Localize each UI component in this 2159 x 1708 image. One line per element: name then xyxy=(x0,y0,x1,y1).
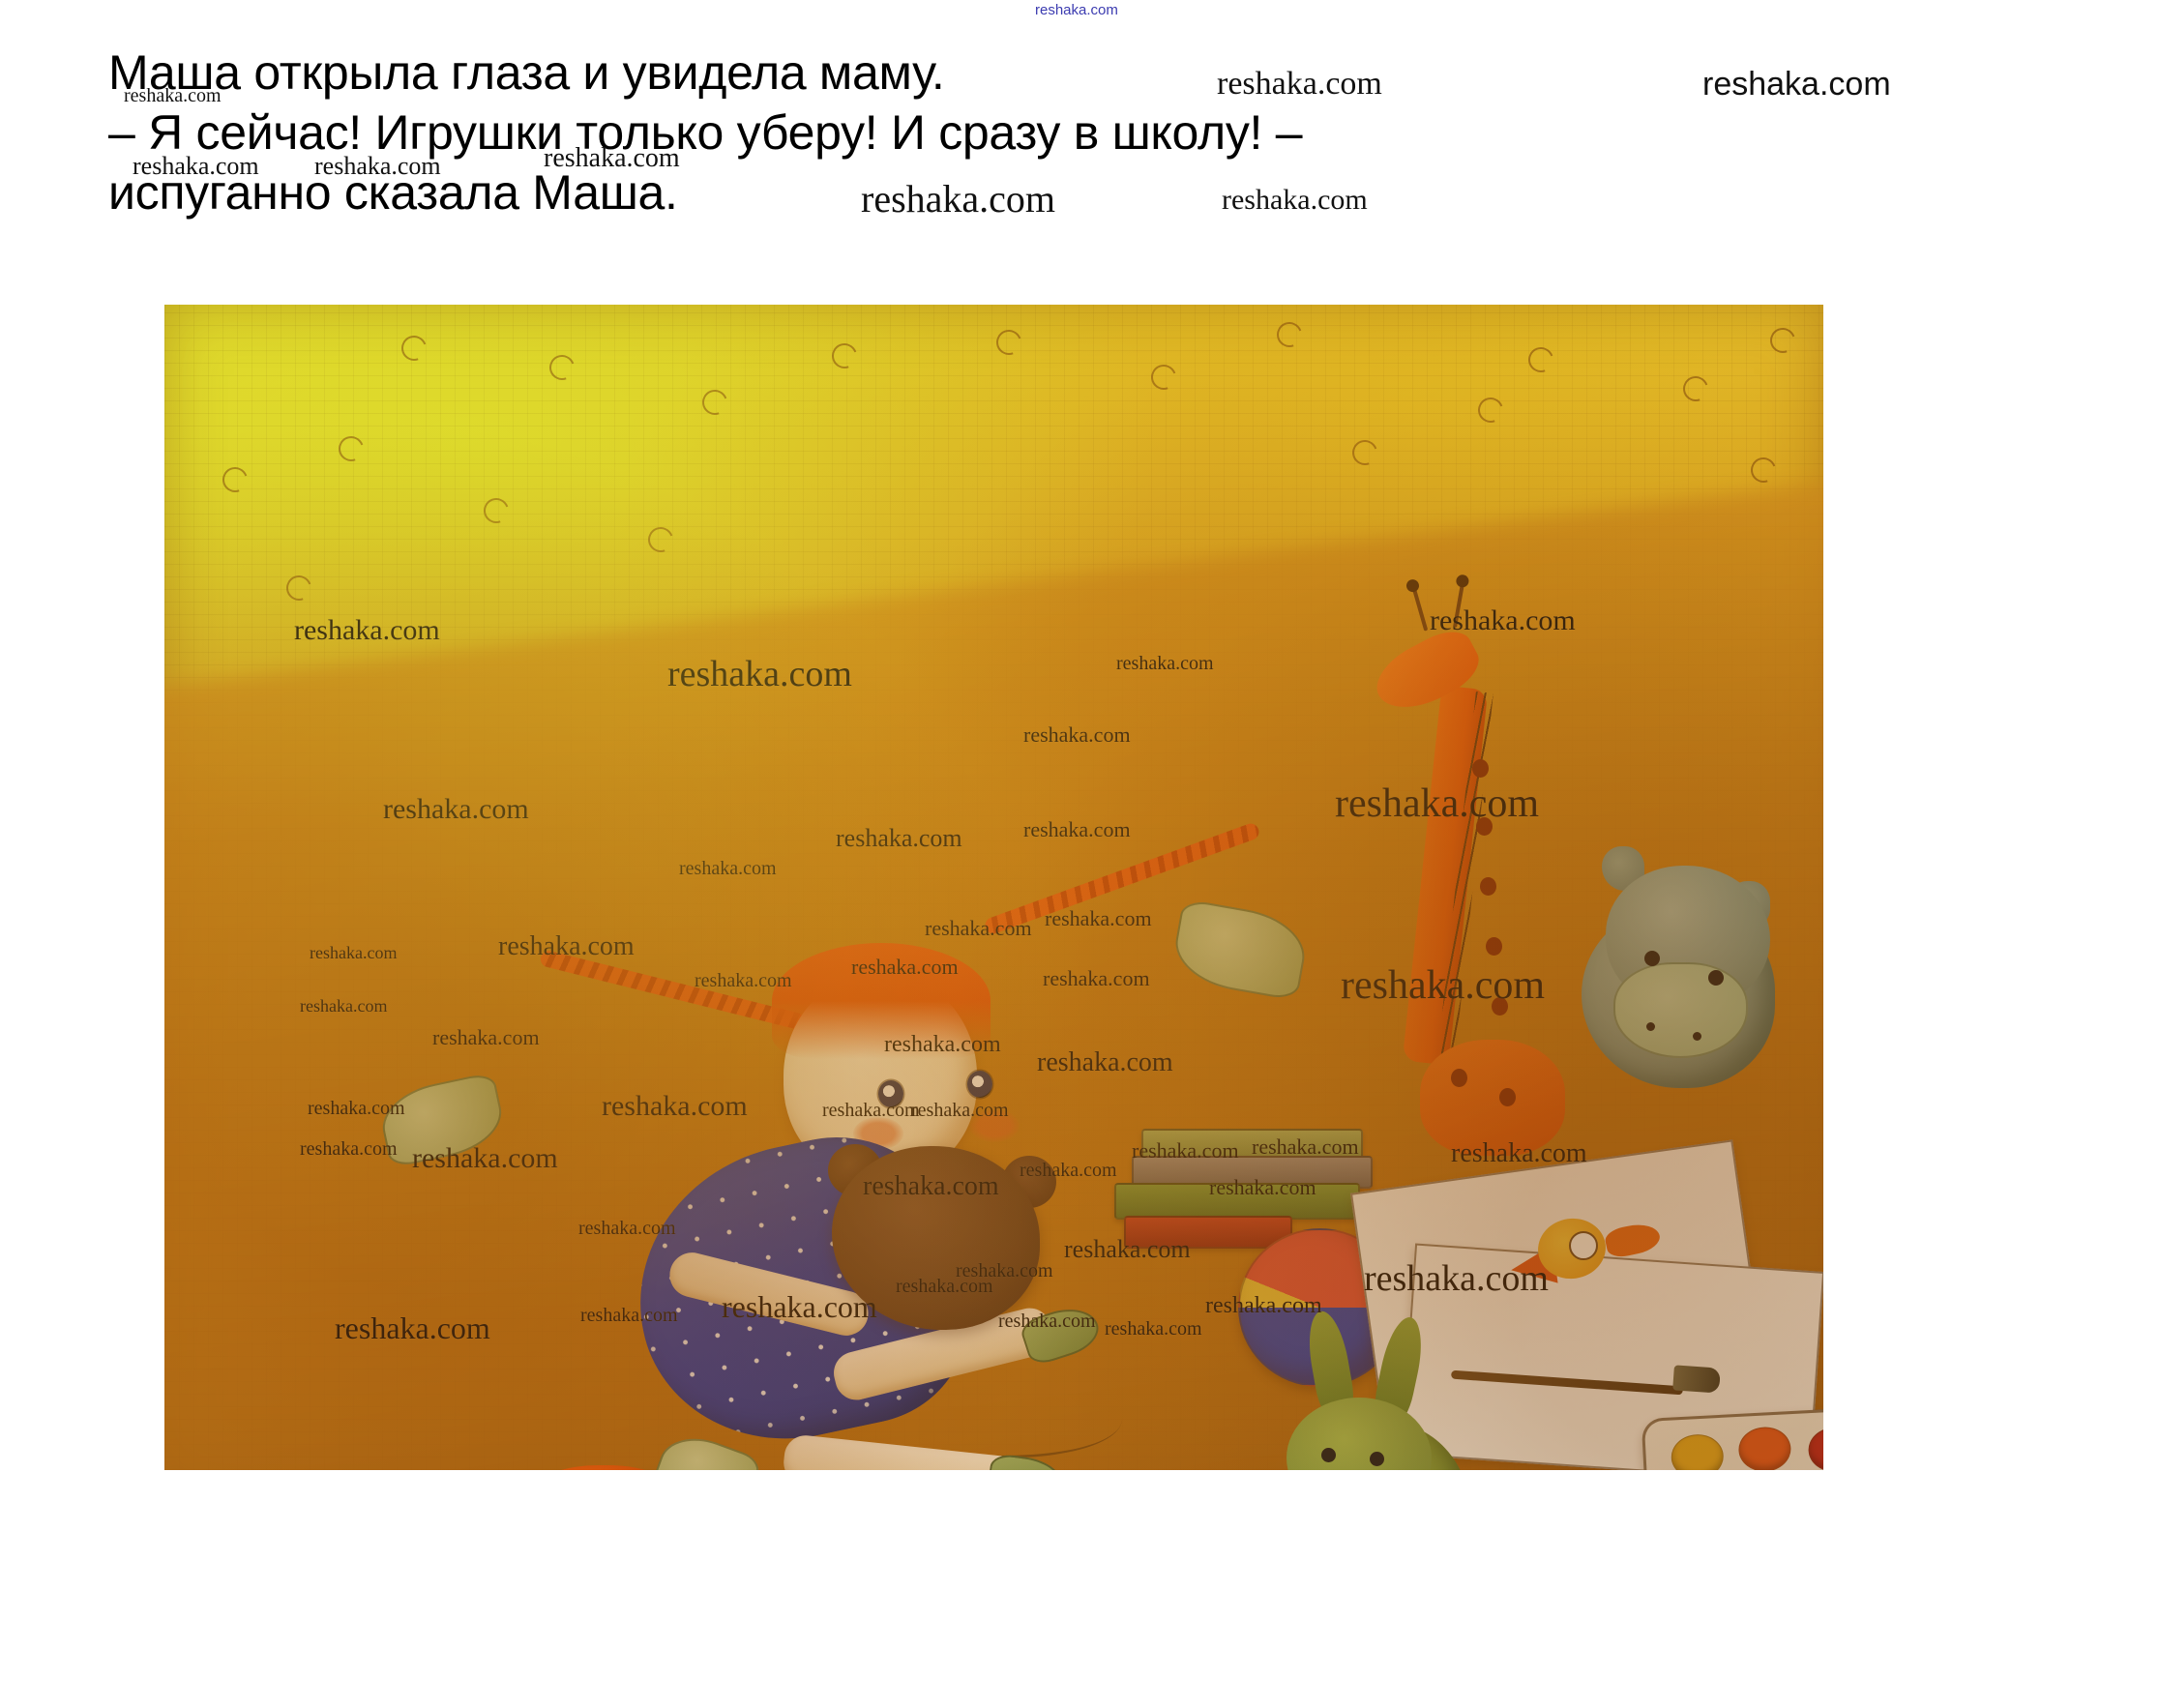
story-line-3: испуганно сказала Маша. xyxy=(108,162,1482,222)
girl-hair xyxy=(772,943,991,1059)
watermark: reshaka.com xyxy=(1702,66,1891,103)
girl-braid-right xyxy=(983,821,1261,936)
story-text-block: Маша открыла глаза и увидела маму. – Я с… xyxy=(108,43,1482,222)
girl-eye-right xyxy=(967,1071,992,1098)
girl-blush xyxy=(969,1109,1020,1142)
girl-eye-left xyxy=(878,1080,903,1107)
story-illustration: reshaka.comreshaka.comreshaka.comreshaka… xyxy=(164,305,1823,1470)
girl-braid-left xyxy=(539,949,806,1030)
story-line-2: – Я сейчас! Игрушки только уберу! И сраз… xyxy=(108,103,1482,162)
girl-figure xyxy=(164,305,1823,1470)
story-line-1: Маша открыла глаза и увидела маму. xyxy=(108,43,1482,103)
top-watermark: reshaka.com xyxy=(1035,2,1118,18)
